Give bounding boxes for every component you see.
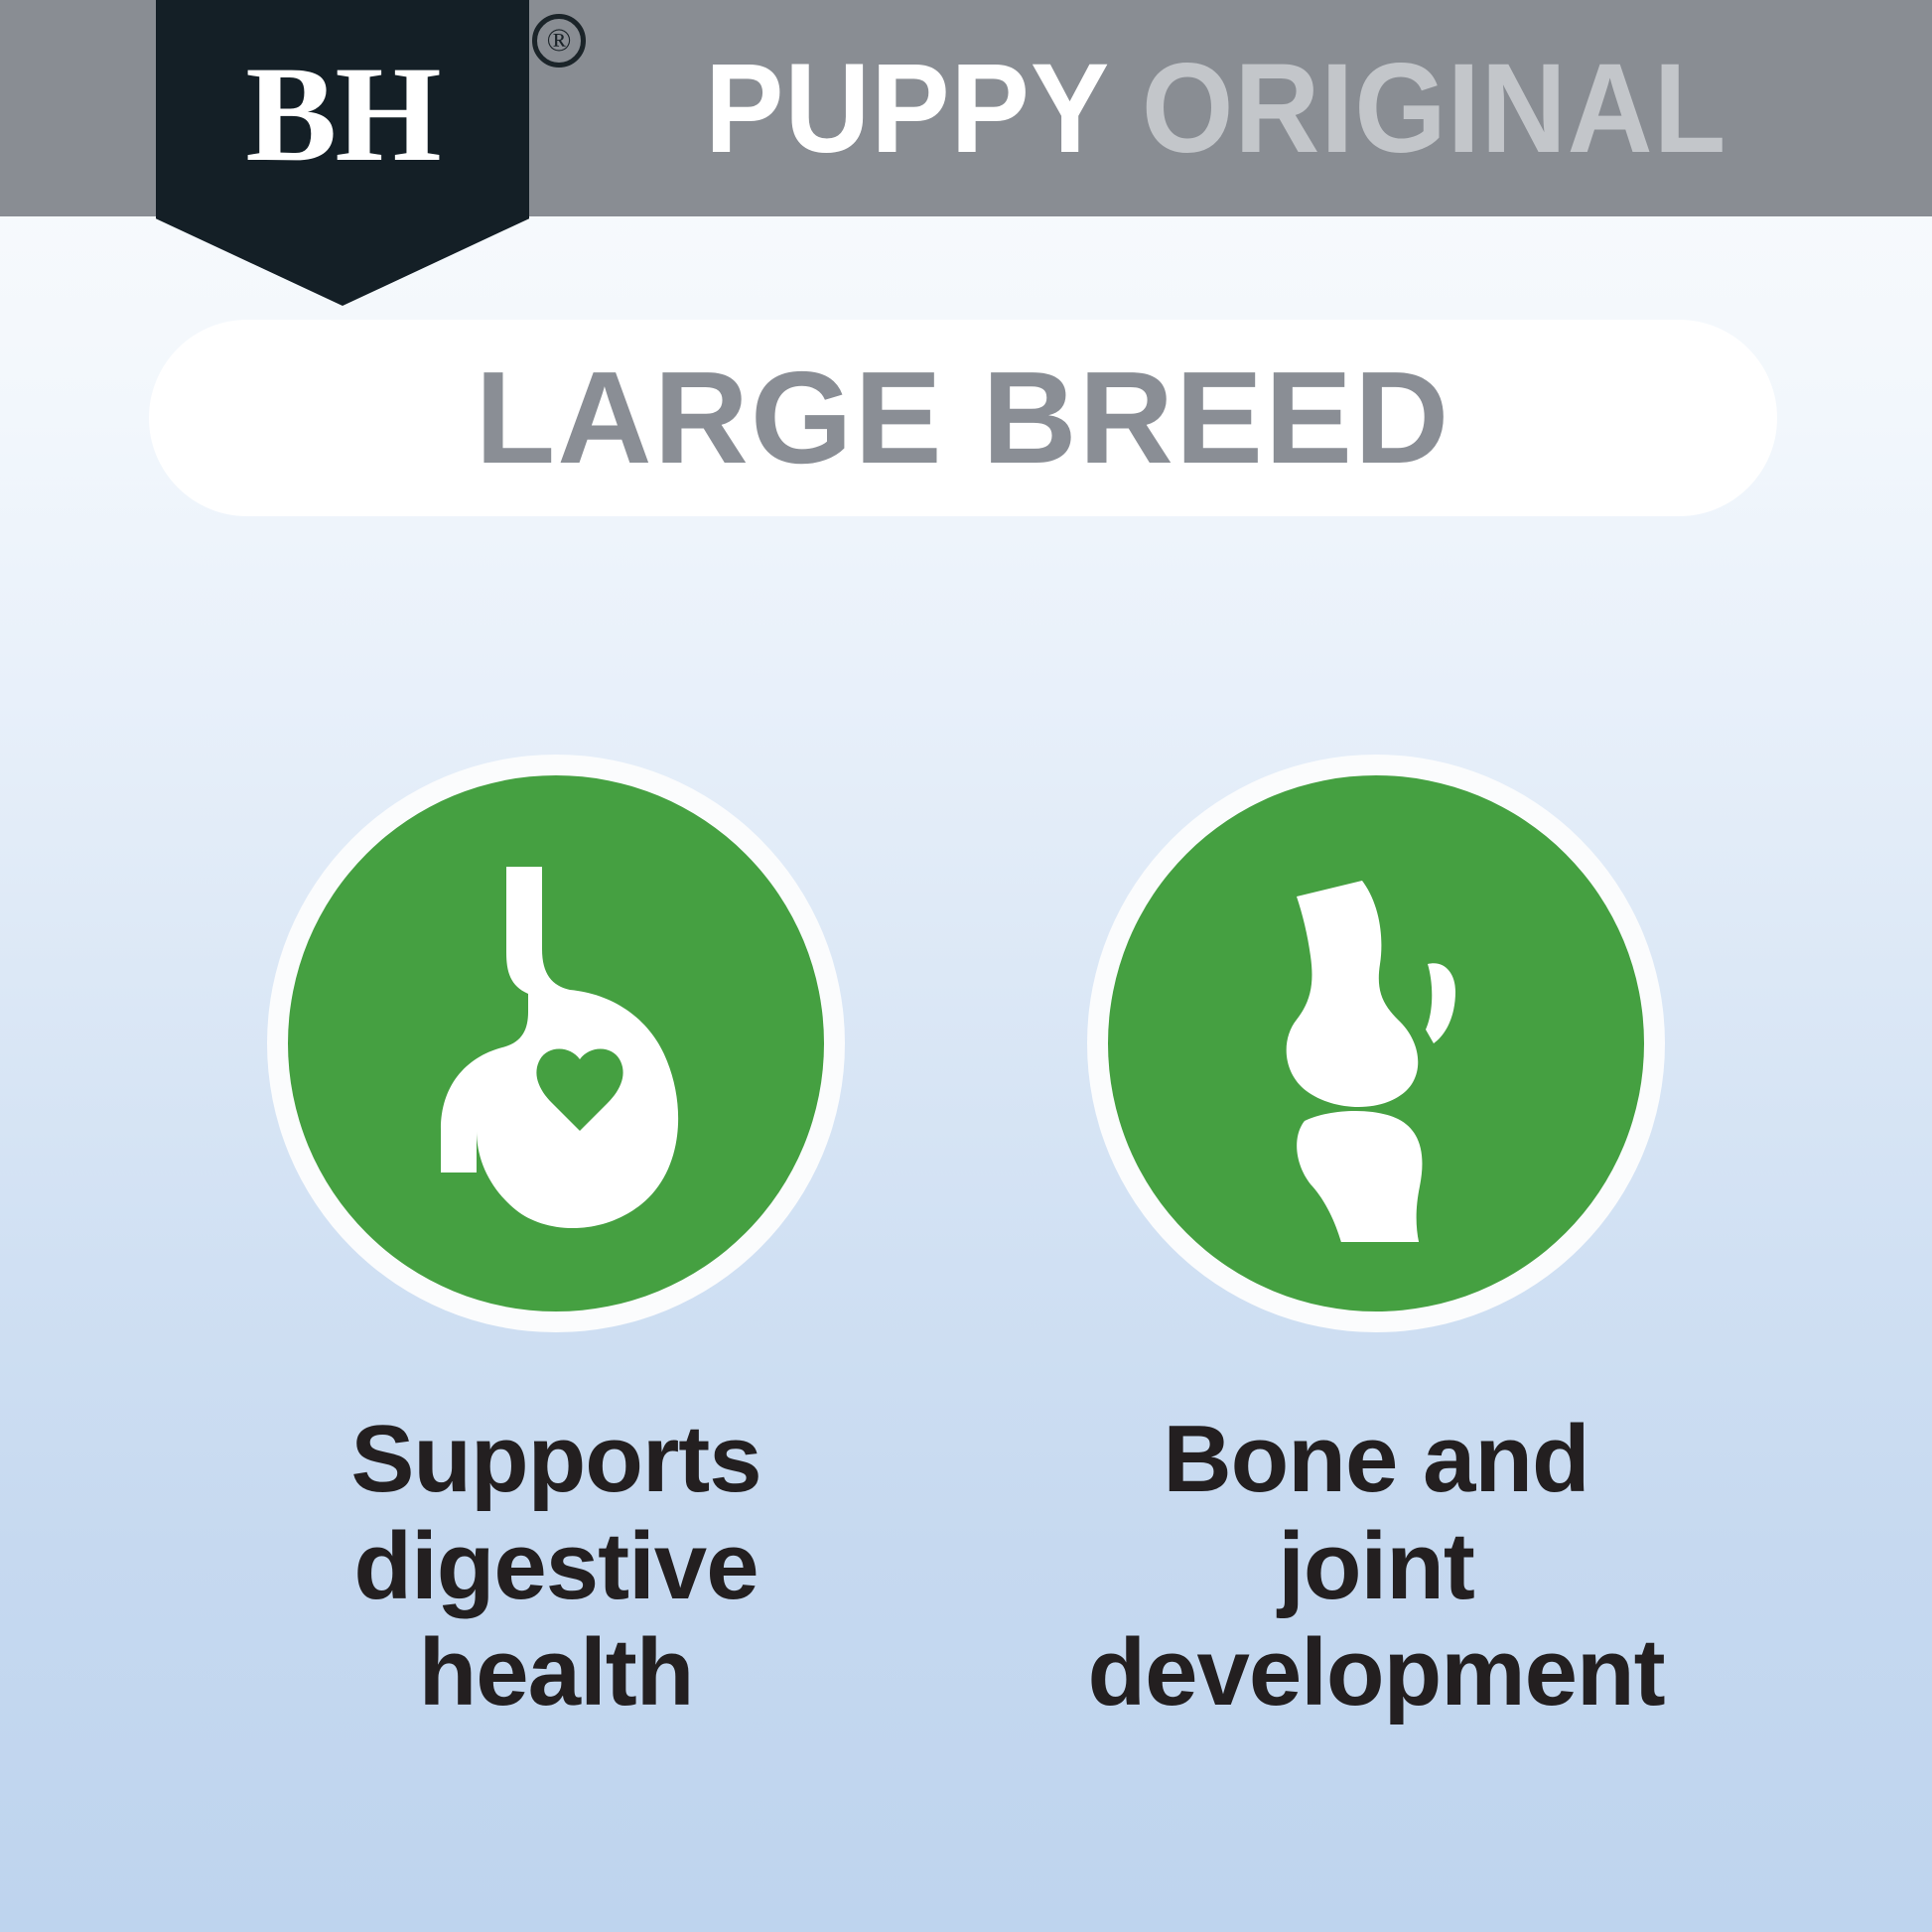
benefit-caption: Bone and joint development xyxy=(1063,1406,1689,1726)
benefit-item-bone-joint: Bone and joint development xyxy=(1063,755,1689,1726)
icon-ring xyxy=(267,755,845,1332)
knee-joint-bone-icon xyxy=(1108,775,1644,1311)
icon-ring xyxy=(1087,755,1665,1332)
stomach-heart-icon xyxy=(288,775,824,1311)
benefit-caption: Supports digestive health xyxy=(243,1406,869,1726)
benefits-row: Supports digestive health xyxy=(0,755,1932,1726)
product-title-secondary: ORIGINAL xyxy=(1142,46,1726,173)
brand-logo-text: BH xyxy=(156,46,529,183)
breed-size-banner: LARGE BREED xyxy=(149,320,1777,516)
product-title: PUPPY ORIGINAL xyxy=(705,20,1726,199)
registered-trademark-icon: ® xyxy=(532,14,586,68)
product-feature-panel: ® PUPPY ORIGINAL BH LARGE BREED xyxy=(0,0,1932,1932)
product-title-primary: PUPPY xyxy=(705,46,1110,173)
shield-badge-icon: BH xyxy=(156,0,529,306)
benefit-item-digestive: Supports digestive health xyxy=(243,755,869,1726)
breed-size-label: LARGE BREED xyxy=(476,352,1451,483)
